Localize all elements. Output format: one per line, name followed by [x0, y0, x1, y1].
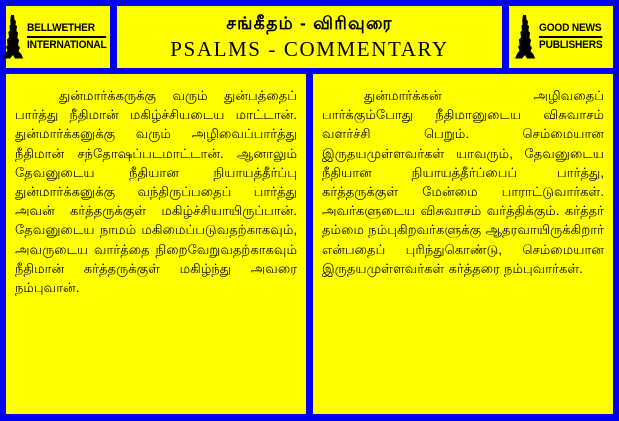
title-panel: சங்கீதம் - விரிவுரை PSALMS - COMMENTARY — [117, 6, 502, 68]
bell-tower-icon — [2, 14, 24, 60]
left-logo-panel: BELLWETHER INTERNATIONAL — [6, 6, 110, 68]
good-news-line-2: PUBLISHERS — [539, 38, 602, 51]
good-news-publishers-logo: GOOD NEWS PUBLISHERS — [514, 14, 608, 60]
right-logo-panel: GOOD NEWS PUBLISHERS — [509, 6, 613, 68]
left-column-paragraph: துன்மார்க்கருக்கு வரும் துன்பத்தைப் பார்… — [15, 86, 297, 297]
commentary-body: துன்மார்க்கருக்கு வரும் துன்பத்தைப் பார்… — [0, 74, 619, 421]
bellwether-line-1: BELLWETHER — [27, 23, 107, 38]
bellwether-line-2: INTERNATIONAL — [27, 38, 107, 51]
bell-tower-icon — [514, 14, 536, 60]
bellwether-logo: BELLWETHER INTERNATIONAL — [2, 14, 113, 60]
bellwether-wordmark: BELLWETHER INTERNATIONAL — [27, 23, 113, 51]
page-root: BELLWETHER INTERNATIONAL சங்கீதம் - விரி… — [0, 0, 619, 421]
good-news-wordmark: GOOD NEWS PUBLISHERS — [539, 23, 608, 51]
page-title-tamil: சங்கீதம் - விரிவுரை — [226, 13, 393, 33]
right-column-paragraph: துன்மார்க்கன் அழிவதைப் பார்க்கும்போது நீ… — [322, 86, 604, 278]
right-text-column: துன்மார்க்கன் அழிவதைப் பார்க்கும்போது நீ… — [313, 74, 613, 414]
page-title-english: PSALMS - COMMENTARY — [170, 37, 448, 62]
header-band: BELLWETHER INTERNATIONAL சங்கீதம் - விரி… — [0, 0, 619, 74]
good-news-line-1: GOOD NEWS — [539, 23, 602, 38]
left-text-column: துன்மார்க்கருக்கு வரும் துன்பத்தைப் பார்… — [6, 74, 306, 414]
